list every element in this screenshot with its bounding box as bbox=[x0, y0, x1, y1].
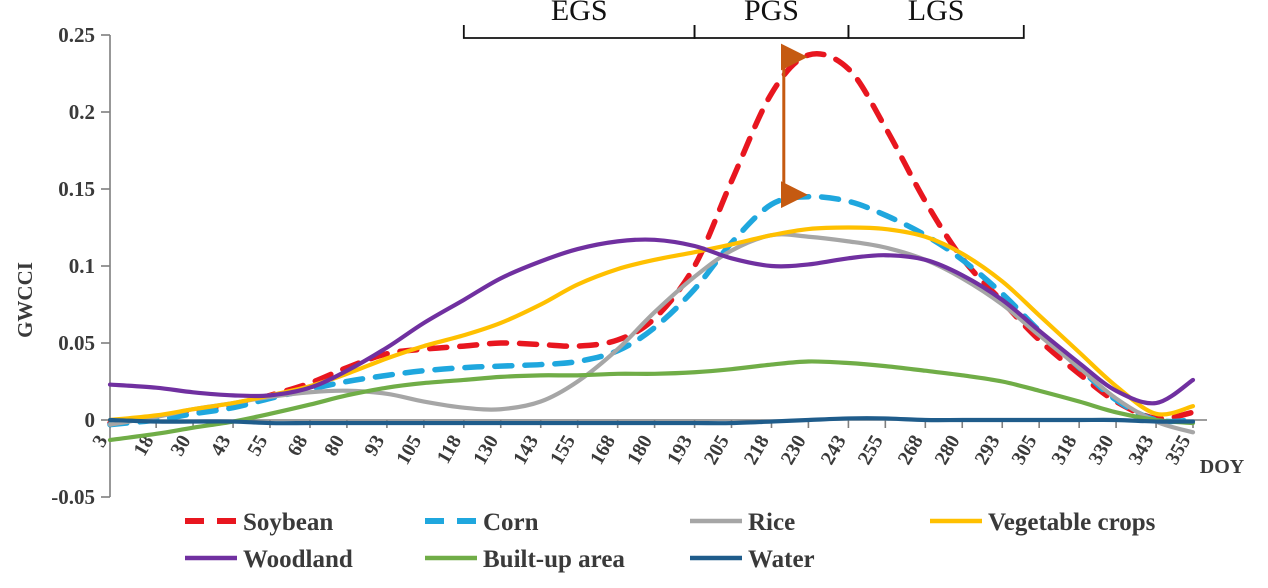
x-tick-label: 93 bbox=[360, 432, 389, 460]
x-tick-label: 130 bbox=[469, 431, 503, 468]
legend-item-soybean[interactable]: Soybean bbox=[185, 509, 333, 536]
y-tick-label: 0 bbox=[85, 408, 96, 432]
legend-label: Corn bbox=[483, 509, 539, 536]
legend-item-corn[interactable]: Corn bbox=[425, 509, 539, 536]
y-axis-title: GWCCI bbox=[13, 262, 37, 338]
x-tick-label: 218 bbox=[740, 432, 774, 469]
x-tick-label: 55 bbox=[243, 432, 272, 460]
y-tick-labels: 0.250.20.150.10.050-0.05 bbox=[51, 23, 95, 509]
x-tick-label: 230 bbox=[777, 432, 811, 469]
legend-item-vegetable-crops[interactable]: Vegetable crops bbox=[930, 509, 1156, 536]
x-tick-label: 280 bbox=[931, 432, 965, 469]
series-group bbox=[110, 54, 1193, 440]
x-tick-label: 343 bbox=[1124, 432, 1158, 469]
y-tick-label: 0.15 bbox=[58, 177, 95, 201]
x-tick-label: 43 bbox=[206, 432, 235, 460]
x-tick-label: 330 bbox=[1084, 432, 1118, 469]
y-axis bbox=[101, 35, 110, 497]
chart-container: EGSPGSLGS 0.250.20.150.10.050-0.05 31830… bbox=[0, 0, 1268, 588]
legend-label: Soybean bbox=[243, 509, 333, 536]
x-tick-label: 80 bbox=[320, 432, 349, 460]
x-tick-label: 105 bbox=[392, 432, 426, 469]
gwcci-seasonal-profile-chart: EGSPGSLGS 0.250.20.150.10.050-0.05 31830… bbox=[0, 0, 1268, 588]
phase-label-pgs: PGS bbox=[744, 0, 799, 27]
x-tick-label: 268 bbox=[894, 432, 928, 469]
legend-item-built-up-area[interactable]: Built-up area bbox=[425, 546, 625, 573]
legend-label: Woodland bbox=[243, 546, 353, 573]
legend-item-rice[interactable]: Rice bbox=[690, 509, 795, 536]
x-axis-title: DOY bbox=[1200, 456, 1245, 478]
x-tick-label: 180 bbox=[623, 432, 657, 469]
x-tick-label: 143 bbox=[509, 432, 543, 469]
legend-label: Water bbox=[748, 546, 815, 573]
y-tick-label: 0.05 bbox=[58, 331, 95, 355]
y-tick-label: -0.05 bbox=[51, 485, 95, 509]
x-tick-label: 30 bbox=[166, 432, 195, 460]
phase-label-group: EGSPGSLGS bbox=[551, 0, 965, 27]
chart-legend: SoybeanCornRiceVegetable cropsWoodlandBu… bbox=[185, 509, 1156, 573]
y-tick-label: 0.1 bbox=[69, 254, 95, 278]
x-tick-label: 318 bbox=[1047, 432, 1081, 469]
series-line-built-up-area bbox=[110, 361, 1193, 440]
legend-item-water[interactable]: Water bbox=[690, 546, 815, 573]
x-tick-label: 255 bbox=[854, 432, 888, 469]
x-tick-label: 293 bbox=[971, 432, 1005, 469]
x-tick-label: 205 bbox=[700, 432, 734, 469]
legend-item-woodland[interactable]: Woodland bbox=[185, 546, 353, 573]
legend-label: Built-up area bbox=[483, 546, 625, 573]
y-tick-label: 0.2 bbox=[69, 100, 95, 124]
phase-label-egs: EGS bbox=[551, 0, 608, 27]
x-tick-label: 305 bbox=[1007, 432, 1041, 469]
x-tick-label: 355 bbox=[1161, 432, 1195, 469]
y-tick-label: 0.25 bbox=[58, 23, 95, 47]
legend-label: Vegetable crops bbox=[988, 509, 1156, 536]
phase-label-lgs: LGS bbox=[908, 0, 965, 27]
x-tick-label: 243 bbox=[817, 432, 851, 469]
x-tick-label: 168 bbox=[586, 432, 620, 469]
x-tick-label: 193 bbox=[663, 432, 697, 469]
legend-label: Rice bbox=[748, 509, 795, 536]
x-tick-labels: 3183043556880931051181301431551681801932… bbox=[88, 431, 1195, 468]
x-tick-label: 118 bbox=[433, 432, 467, 468]
x-tick-label: 155 bbox=[546, 432, 580, 469]
x-tick-label: 68 bbox=[283, 432, 312, 460]
